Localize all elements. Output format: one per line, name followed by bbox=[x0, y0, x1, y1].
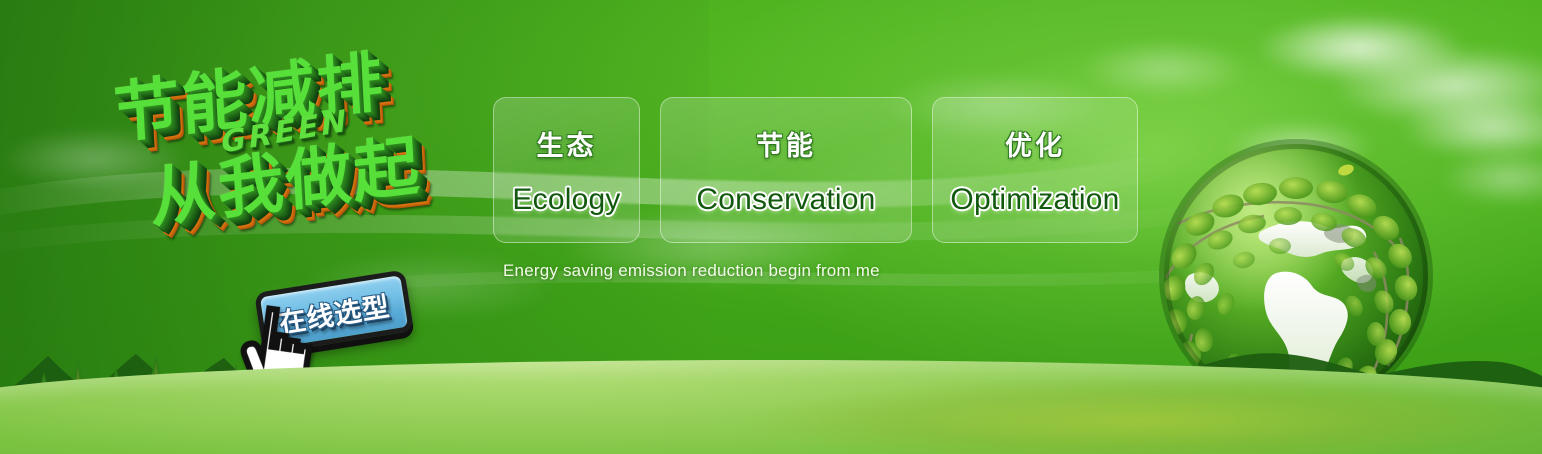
feature-card-title-en: Optimization bbox=[950, 183, 1119, 217]
feature-card-title-cn: 节能 bbox=[756, 124, 816, 163]
feature-card-optimization[interactable]: 优化 Optimization bbox=[932, 97, 1138, 243]
feature-card-ecology[interactable]: 生态 Ecology bbox=[493, 97, 640, 243]
green-energy-banner: 节能减排 GREEN 从我做起 在线选型 生态 Ecology 节能 Conse… bbox=[0, 0, 1542, 454]
feature-card-title-cn: 生态 bbox=[537, 124, 597, 163]
feature-card-title-en: Ecology bbox=[512, 183, 620, 217]
feature-card-title-cn: 优化 bbox=[1005, 124, 1065, 163]
feature-card-conservation[interactable]: 节能 Conservation bbox=[660, 97, 912, 243]
hero-3d-logo: 节能减排 GREEN 从我做起 bbox=[94, 26, 496, 278]
fallen-leaves-icon bbox=[740, 378, 1542, 454]
feature-card-list: 生态 Ecology 节能 Conservation 优化 Optimizati… bbox=[493, 97, 1138, 243]
ground-scenery bbox=[0, 334, 1542, 454]
feature-card-title-en: Conservation bbox=[696, 183, 875, 217]
banner-tagline: Energy saving emission reduction begin f… bbox=[503, 261, 880, 281]
